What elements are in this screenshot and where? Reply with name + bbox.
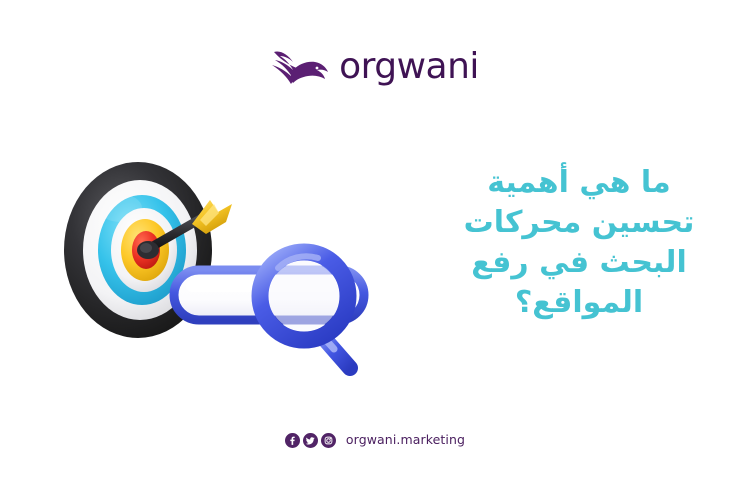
seo-illustration xyxy=(34,160,454,390)
headline-line-3: البحث في رفع xyxy=(436,243,722,283)
headline-block: ما هي أهمية تحسين محركات البحث في رفع ال… xyxy=(436,163,722,323)
instagram-icon[interactable] xyxy=(321,433,336,448)
headline-line-2: تحسين محركات xyxy=(436,203,722,243)
bird-icon xyxy=(271,46,329,90)
headline-line-4: المواقع؟ xyxy=(436,283,722,323)
social-links xyxy=(285,433,336,448)
footer-handle[interactable]: orgwani.marketing xyxy=(346,434,465,447)
brand-wordmark: orgwani xyxy=(339,49,479,87)
poster-canvas: orgwani xyxy=(0,0,750,500)
brand-header: orgwani xyxy=(0,40,750,96)
footer-bar: orgwani.marketing xyxy=(0,433,750,448)
headline-line-1: ما هي أهمية xyxy=(436,163,722,203)
facebook-icon[interactable] xyxy=(285,433,300,448)
twitter-icon[interactable] xyxy=(303,433,318,448)
